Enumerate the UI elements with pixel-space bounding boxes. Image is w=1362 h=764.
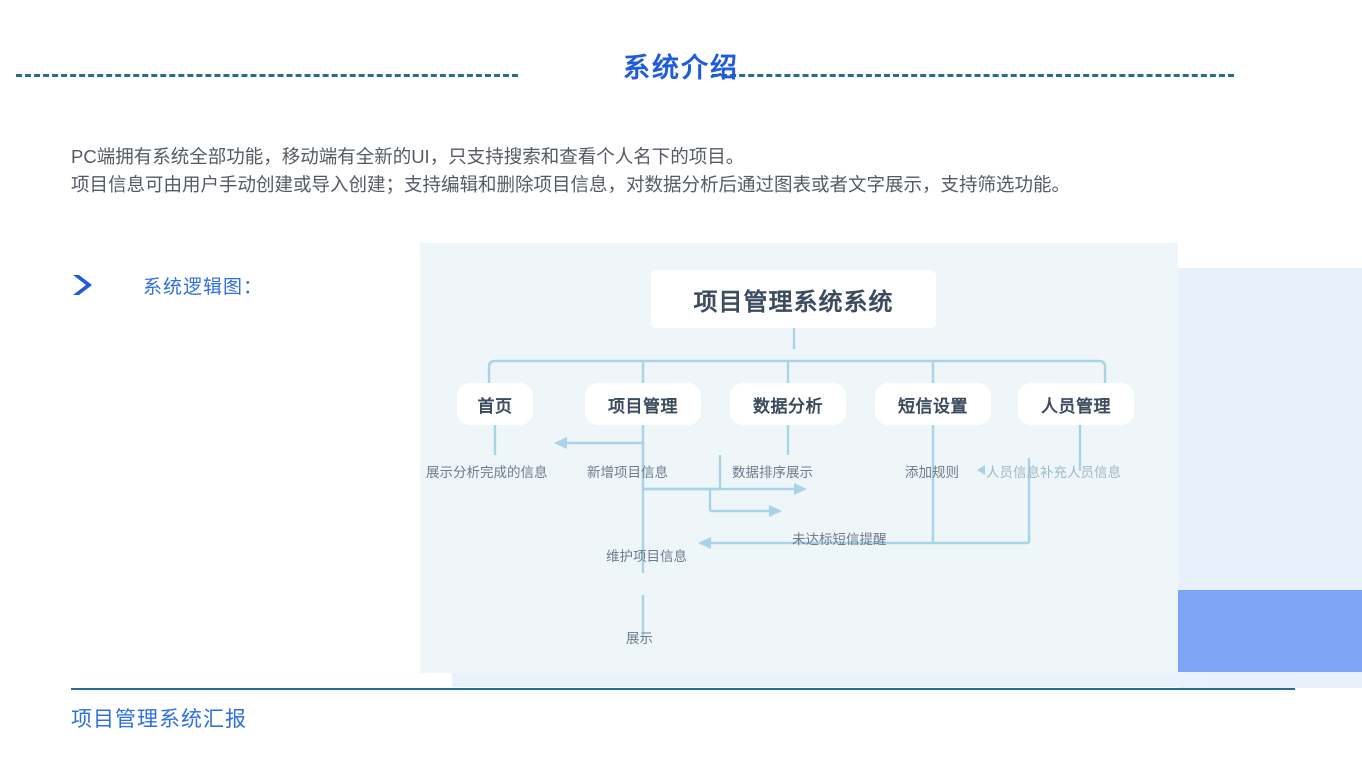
diagram-node-sms[interactable]: 短信设置 — [875, 383, 991, 425]
slide-canvas: 系统介绍 PC端拥有系统全部功能，移动端有全新的UI，只支持搜索和查看个人名下的… — [0, 0, 1362, 764]
decorative-blue-block — [1178, 590, 1362, 672]
diagram-sublabel-home-display: 展示分析完成的信息 — [426, 461, 548, 481]
diagram-sublabel-sms-rule: 添加规则 — [905, 461, 959, 481]
page-title: 系统介绍 — [0, 48, 1362, 88]
double-chevron-right-icon — [71, 270, 101, 300]
system-logic-diagram-panel: 项目管理系统系统 首页 项目管理 数据分析 短信设置 人员管理 展示分析完成的信… — [420, 243, 1178, 673]
diagram-root-node: 项目管理系统系统 — [651, 270, 936, 328]
body-line-2: 项目信息可由用户手动创建或导入创建；支持编辑和删除项目信息，对数据分析后通过图表… — [71, 171, 1331, 199]
diagram-node-staff[interactable]: 人员管理 — [1018, 383, 1134, 425]
slide-header: 系统介绍 — [0, 48, 1362, 96]
diagram-panel-footer-band — [452, 673, 1210, 687]
diagram-sublabel-staff-info: 人员信息 — [986, 461, 1040, 481]
diagram-sublabel-sms-reminder: 未达标短信提醒 — [792, 528, 887, 548]
diagram-sublabel-project-maintain: 维护项目信息 — [606, 545, 687, 565]
diagram-sublabel-analysis-sort: 数据排序展示 — [732, 461, 813, 481]
diagram-node-analysis[interactable]: 数据分析 — [730, 383, 846, 425]
connector-arrowheads — [554, 437, 807, 549]
footer-title: 项目管理系统汇报 — [71, 703, 247, 733]
section-bullet-label: 系统逻辑图： — [143, 272, 263, 299]
diagram-node-project[interactable]: 项目管理 — [585, 383, 701, 425]
diagram-node-home[interactable]: 首页 — [457, 383, 533, 425]
diagram-sublabel-project-add: 新增项目信息 — [587, 461, 668, 481]
section-bullet-row: 系统逻辑图： — [71, 270, 263, 300]
diagram-sublabel-staff-supplement: 补充人员信息 — [1040, 461, 1121, 481]
arrow-left-icon — [977, 465, 985, 475]
footer-divider — [71, 688, 1295, 690]
diagram-sublabel-display: 展示 — [626, 627, 653, 647]
body-line-1: PC端拥有系统全部功能，移动端有全新的UI，只支持搜索和查看个人名下的项目。 — [71, 143, 1331, 171]
body-paragraph: PC端拥有系统全部功能，移动端有全新的UI，只支持搜索和查看个人名下的项目。 项… — [71, 143, 1331, 199]
